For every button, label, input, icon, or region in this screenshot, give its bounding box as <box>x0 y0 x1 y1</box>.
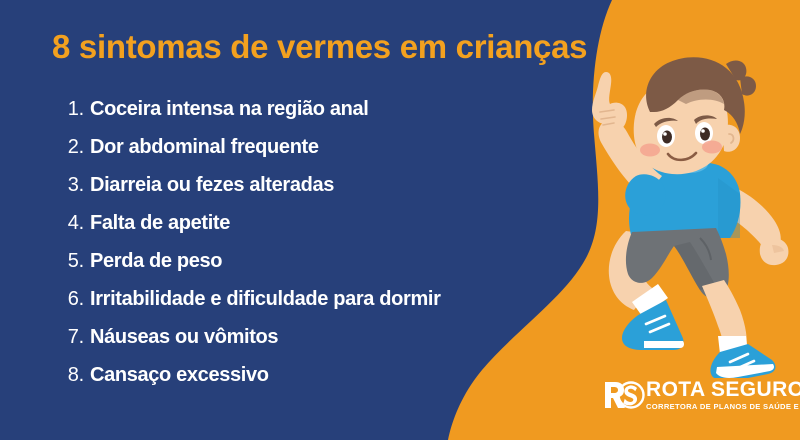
lowered-arm <box>734 188 788 265</box>
symptom-list: 1. Coceira intensa na região anal 2. Dor… <box>62 98 532 402</box>
page-title: 8 sintomas de vermes em crianças <box>52 28 612 66</box>
list-item-label: Falta de apetite <box>90 212 532 235</box>
list-item-number: 8. <box>62 364 84 387</box>
list-item-number: 5. <box>62 250 84 273</box>
list-item-number: 6. <box>62 288 84 311</box>
list-item-label: Náuseas ou vômitos <box>90 326 532 349</box>
infographic-canvas: 8 sintomas de vermes em crianças 1. Coce… <box>0 0 800 440</box>
list-item-number: 3. <box>62 174 84 197</box>
front-leg <box>702 280 775 378</box>
list-item-label: Cansaço excessivo <box>90 364 532 387</box>
list-item: 2. Dor abdominal frequente <box>62 136 532 174</box>
rs-monogram-icon <box>603 378 645 412</box>
logo[interactable]: ROTA SEGUROS CORRETORA DE PLANOS DE SAÚD… <box>603 377 793 423</box>
list-item: 7. Náuseas ou vômitos <box>62 326 532 364</box>
list-item-number: 4. <box>62 212 84 235</box>
list-item: 4. Falta de apetite <box>62 212 532 250</box>
list-item-label: Dor abdominal frequente <box>90 136 532 159</box>
head <box>634 57 756 174</box>
list-item: 8. Cansaço excessivo <box>62 364 532 402</box>
list-item-label: Irritabilidade e dificuldade para dormir <box>90 288 532 311</box>
list-item-label: Diarreia ou fezes alteradas <box>90 174 532 197</box>
list-item: 3. Diarreia ou fezes alteradas <box>62 174 532 212</box>
list-item: 6. Irritabilidade e dificuldade para dor… <box>62 288 532 326</box>
list-item-number: 2. <box>62 136 84 159</box>
list-item-label: Coceira intensa na região anal <box>90 98 532 121</box>
list-item: 5. Perda de peso <box>62 250 532 288</box>
list-item: 1. Coceira intensa na região anal <box>62 98 532 136</box>
logo-name: ROTA SEGUROS <box>646 379 800 400</box>
logo-tagline: CORRETORA DE PLANOS DE SAÚDE E SEGUROS <box>646 403 800 411</box>
boy-pointing-illustration <box>540 48 800 378</box>
list-item-label: Perda de peso <box>90 250 532 273</box>
list-item-number: 7. <box>62 326 84 349</box>
logo-text-block: ROTA SEGUROS CORRETORA DE PLANOS DE SAÚD… <box>646 377 800 411</box>
list-item-number: 1. <box>62 98 84 121</box>
